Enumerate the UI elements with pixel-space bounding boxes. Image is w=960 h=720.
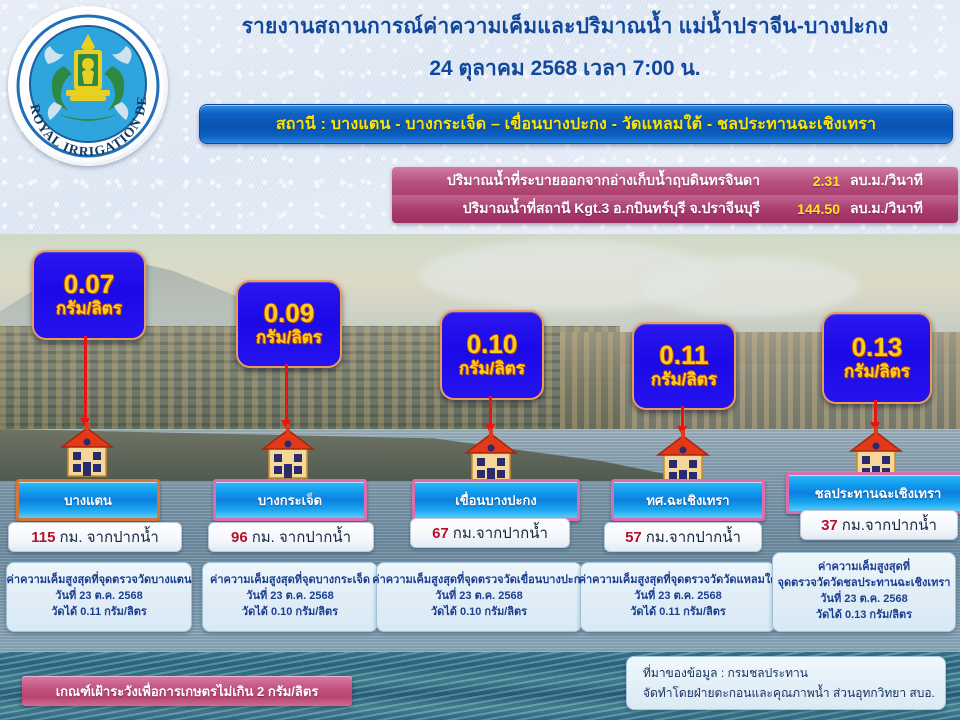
distance-text-4: กม.จากปากน้ำ bbox=[646, 525, 741, 549]
distance-number-2: 96 bbox=[231, 529, 248, 546]
max-salinity-box-5: ค่าความเค็มสูงสุดที่ จุดตรวจวัดวัดชลประท… bbox=[772, 552, 956, 632]
detail-line: วันที่ 23 ต.ค. 2568 bbox=[435, 589, 522, 605]
criteria-text: เกณฑ์เฝ้าระวังเพื่อการเกษตรไม่เกิน 2 กรั… bbox=[56, 681, 319, 702]
detail-line: ค่าความเค็มสูงสุดที่จุดตรวจวัดบางแตน bbox=[7, 573, 192, 589]
sidebar-item-bangtaen[interactable]: บางแตน bbox=[16, 479, 160, 521]
station-house-icon-2 bbox=[257, 424, 319, 480]
salinity-value-3: 0.10 bbox=[467, 331, 518, 358]
distance-text-5: กม.จากปากน้ำ bbox=[842, 513, 937, 537]
detail-line: ค่าความเค็มสูงสุดที่จุดตรวจวัดวัดแหลมใต้ bbox=[579, 573, 778, 589]
salinity-unit-4: กรัม/ลิตร bbox=[651, 371, 717, 390]
detail-line: วัดได้ 0.10 กรัม/ลิตร bbox=[431, 605, 527, 621]
cloud bbox=[640, 256, 860, 316]
salinity-bubble-1: 0.07 กรัม/ลิตร bbox=[32, 250, 146, 340]
max-salinity-box-3: ค่าความเค็มสูงสุดที่จุดตรวจวัดเขื่อนบางป… bbox=[376, 562, 582, 632]
table-row: ปริมาณน้ำที่ระบายออกจากอ่างเก็บน้ำฤบดินท… bbox=[392, 167, 958, 195]
discharge-value-1: 2.31 bbox=[770, 173, 840, 189]
data-source-box: ที่มาของข้อมูล : กรมชลประทาน จัดทำโดยฝ่า… bbox=[626, 656, 946, 710]
station-house-icon-4 bbox=[652, 430, 714, 486]
station-name-2: บางกระเจ็ด bbox=[258, 490, 322, 511]
sidebar-item-chachoengsao-irrigation[interactable]: ชลประทานฉะเชิงเทรา bbox=[786, 472, 960, 514]
source-line-1: ที่มาของข้อมูล : กรมชลประทาน bbox=[643, 663, 945, 683]
pointer-line-5 bbox=[874, 400, 877, 424]
salinity-unit-3: กรัม/ลิตร bbox=[459, 360, 525, 379]
salinity-bubble-4: 0.11 กรัม/ลิตร bbox=[632, 322, 736, 410]
title-line-1: รายงานสถานการณ์ค่าความเค็มและปริมาณน้ำ แ… bbox=[185, 14, 945, 40]
infographic-root: ROYAL IRRIGATION DEPARTMENT รายงานสถานกา… bbox=[0, 0, 960, 720]
discharge-table: ปริมาณน้ำที่ระบายออกจากอ่างเก็บน้ำฤบดินท… bbox=[392, 167, 958, 223]
detail-line: ค่าความเค็มสูงสุดที่จุดบางกระเจ็ด bbox=[210, 573, 370, 589]
max-salinity-box-1: ค่าความเค็มสูงสุดที่จุดตรวจวัดบางแตน วัน… bbox=[6, 562, 192, 632]
page-title: รายงานสถานการณ์ค่าความเค็มและปริมาณน้ำ แ… bbox=[185, 14, 945, 85]
sidebar-item-bangpakong-dam[interactable]: เขื่อนบางปะกง bbox=[412, 479, 580, 521]
salinity-bubble-3: 0.10 กรัม/ลิตร bbox=[440, 310, 544, 400]
salinity-unit-1: กรัม/ลิตร bbox=[56, 300, 122, 319]
royal-irrigation-department-seal-icon: ROYAL IRRIGATION DEPARTMENT bbox=[8, 6, 168, 166]
station-house-icon-1 bbox=[56, 422, 118, 478]
distance-number-3: 67 bbox=[432, 525, 449, 542]
sidebar-item-chachoengsao-municipality[interactable]: ทศ.ฉะเชิงเทรา bbox=[611, 479, 765, 521]
discharge-unit-2: ลบ.ม./วินาที bbox=[840, 198, 958, 220]
source-line-2: จัดทำโดยฝ่ายตะกอนและคุณภาพน้ำ ส่วนอุทกวิ… bbox=[643, 683, 945, 703]
detail-line: วันที่ 23 ต.ค. 2568 bbox=[634, 589, 721, 605]
discharge-unit-1: ลบ.ม./วินาที bbox=[840, 170, 958, 192]
pointer-line-1 bbox=[84, 336, 87, 420]
detail-line: ค่าความเค็มสูงสุดที่จุดตรวจวัดเขื่อนบางป… bbox=[372, 573, 586, 589]
salinity-bubble-2: 0.09 กรัม/ลิตร bbox=[236, 280, 342, 368]
distance-text-1: กม. จากปากน้ำ bbox=[59, 525, 158, 549]
detail-line: วัดได้ 0.11 กรัม/ลิตร bbox=[51, 605, 147, 621]
title-line-2: 24 ตุลาคม 2568 เวลา 7:00 น. bbox=[185, 52, 945, 85]
station-name-4: ทศ.ฉะเชิงเทรา bbox=[646, 490, 729, 511]
discharge-label-2: ปริมาณน้ำที่สถานี Kgt.3 อ.กบินทร์บุรี จ.… bbox=[392, 198, 770, 220]
detail-line: วัดได้ 0.10 กรัม/ลิตร bbox=[242, 605, 338, 621]
distance-box-3: 67 กม.จากปากน้ำ bbox=[410, 518, 570, 548]
distance-text-3: กม.จากปากน้ำ bbox=[453, 521, 548, 545]
distance-number-1: 115 bbox=[31, 529, 55, 546]
distance-box-1: 115 กม. จากปากน้ำ bbox=[8, 522, 182, 552]
station-list-banner: สถานี : บางแตน - บางกระเจ็ด – เขื่อนบางป… bbox=[199, 104, 953, 144]
distance-text-2: กม. จากปากน้ำ bbox=[252, 525, 351, 549]
detail-line: วันที่ 23 ต.ค. 2568 bbox=[246, 589, 333, 605]
station-house-icon-3 bbox=[460, 428, 522, 484]
station-name-3: เขื่อนบางปะกง bbox=[455, 490, 536, 511]
detail-line: วันที่ 23 ต.ค. 2568 bbox=[55, 589, 142, 605]
detail-line: วัดได้ 0.11 กรัม/ลิตร bbox=[630, 605, 726, 621]
station-name-1: บางแตน bbox=[64, 490, 112, 511]
discharge-value-2: 144.50 bbox=[770, 201, 840, 217]
salinity-value-1: 0.07 bbox=[64, 271, 115, 298]
salinity-value-5: 0.13 bbox=[852, 334, 903, 361]
distance-number-4: 57 bbox=[625, 529, 642, 546]
detail-line: จุดตรวจวัดวัดชลประทานฉะเชิงเทรา bbox=[778, 576, 951, 592]
detail-line: วันที่ 23 ต.ค. 2568 bbox=[820, 592, 907, 608]
discharge-label-1: ปริมาณน้ำที่ระบายออกจากอ่างเก็บน้ำฤบดินท… bbox=[392, 170, 770, 192]
max-salinity-box-2: ค่าความเค็มสูงสุดที่จุดบางกระเจ็ด วันที่… bbox=[202, 562, 378, 632]
detail-line: ค่าความเค็มสูงสุดที่ bbox=[818, 560, 910, 576]
distance-box-4: 57 กม.จากปากน้ำ bbox=[604, 522, 762, 552]
max-salinity-box-4: ค่าความเค็มสูงสุดที่จุดตรวจวัดวัดแหลมใต้… bbox=[580, 562, 776, 632]
detail-line: วัดได้ 0.13 กรัม/ลิตร bbox=[816, 608, 912, 624]
salinity-unit-5: กรัม/ลิตร bbox=[844, 363, 910, 382]
station-name-5: ชลประทานฉะเชิงเทรา bbox=[815, 483, 942, 504]
salinity-value-2: 0.09 bbox=[264, 300, 315, 327]
distance-box-5: 37 กม.จากปากน้ำ bbox=[800, 510, 958, 540]
distance-box-2: 96 กม. จากปากน้ำ bbox=[208, 522, 374, 552]
salinity-bubble-5: 0.13 กรัม/ลิตร bbox=[822, 312, 932, 404]
distance-number-5: 37 bbox=[821, 517, 838, 534]
salinity-value-4: 0.11 bbox=[659, 342, 708, 369]
pointer-line-2 bbox=[285, 364, 288, 422]
pointer-line-3 bbox=[489, 396, 492, 426]
sidebar-item-bangkrajed[interactable]: บางกระเจ็ด bbox=[213, 479, 367, 521]
salinity-unit-2: กรัม/ลิตร bbox=[256, 329, 322, 348]
table-row: ปริมาณน้ำที่สถานี Kgt.3 อ.กบินทร์บุรี จ.… bbox=[392, 195, 958, 223]
pointer-line-4 bbox=[681, 406, 684, 428]
agriculture-threshold-banner: เกณฑ์เฝ้าระวังเพื่อการเกษตรไม่เกิน 2 กรั… bbox=[22, 676, 352, 706]
station-list-text: สถานี : บางแตน - บางกระเจ็ด – เขื่อนบางป… bbox=[276, 112, 876, 137]
